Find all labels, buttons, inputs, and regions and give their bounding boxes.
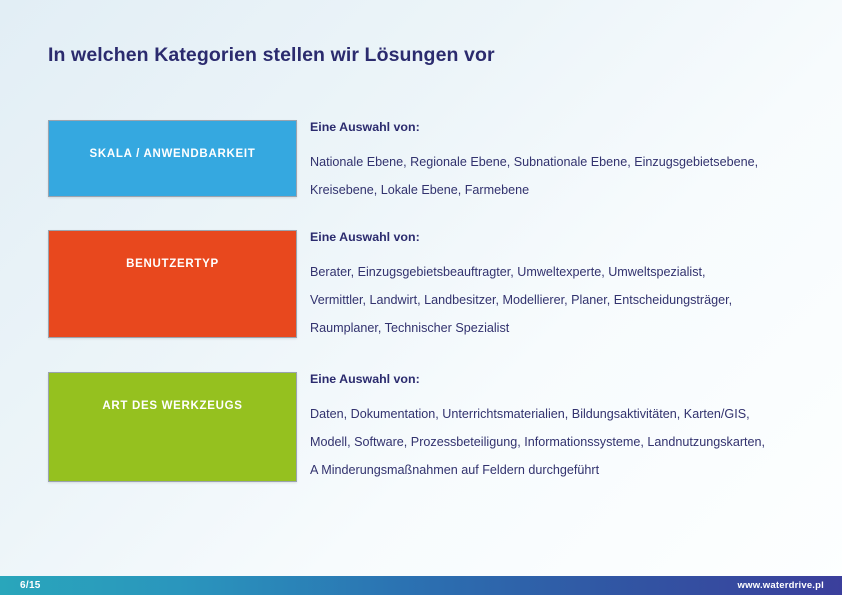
category-box-label: ART DES WERKZEUGS bbox=[49, 373, 296, 412]
detail-line: Daten, Dokumentation, Unterrichtsmateria… bbox=[310, 400, 824, 428]
detail-line: Nationale Ebene, Regionale Ebene, Subnat… bbox=[310, 148, 824, 176]
page-number: 6/15 bbox=[20, 580, 41, 591]
category-box-benutzertyp[interactable]: BENUTZERTYP bbox=[48, 230, 297, 338]
category-detail-skala: Eine Auswahl von: Nationale Ebene, Regio… bbox=[310, 120, 824, 204]
slide-canvas: In welchen Kategorien stellen wir Lösung… bbox=[0, 0, 842, 595]
category-detail-art-des-werkzeugs: Eine Auswahl von: Daten, Dokumentation, … bbox=[310, 372, 824, 484]
detail-heading: Eine Auswahl von: bbox=[310, 230, 824, 258]
detail-line: Kreisebene, Lokale Ebene, Farmebene bbox=[310, 176, 824, 204]
detail-line: Vermittler, Landwirt, Landbesitzer, Mode… bbox=[310, 286, 824, 314]
category-box-label: BENUTZERTYP bbox=[49, 231, 296, 270]
category-box-label: SKALA / ANWENDBARKEIT bbox=[49, 121, 296, 160]
detail-line: Berater, Einzugsgebietsbeauftragter, Umw… bbox=[310, 258, 824, 286]
page-title: In welchen Kategorien stellen wir Lösung… bbox=[48, 44, 495, 67]
footer-website-url[interactable]: www.waterdrive.pl bbox=[738, 580, 824, 591]
detail-line: A Minderungsmaßnahmen auf Feldern durchg… bbox=[310, 456, 824, 484]
category-box-art-des-werkzeugs[interactable]: ART DES WERKZEUGS bbox=[48, 372, 297, 482]
detail-heading: Eine Auswahl von: bbox=[310, 372, 824, 400]
detail-line: Raumplaner, Technischer Spezialist bbox=[310, 314, 824, 342]
slide-footer: 6/15 www.waterdrive.pl bbox=[0, 576, 842, 595]
detail-line: Modell, Software, Prozessbeteiligung, In… bbox=[310, 428, 824, 456]
detail-heading: Eine Auswahl von: bbox=[310, 120, 824, 148]
category-detail-benutzertyp: Eine Auswahl von: Berater, Einzugsgebiet… bbox=[310, 230, 824, 342]
category-box-skala-anwendbarkeit[interactable]: SKALA / ANWENDBARKEIT bbox=[48, 120, 297, 197]
